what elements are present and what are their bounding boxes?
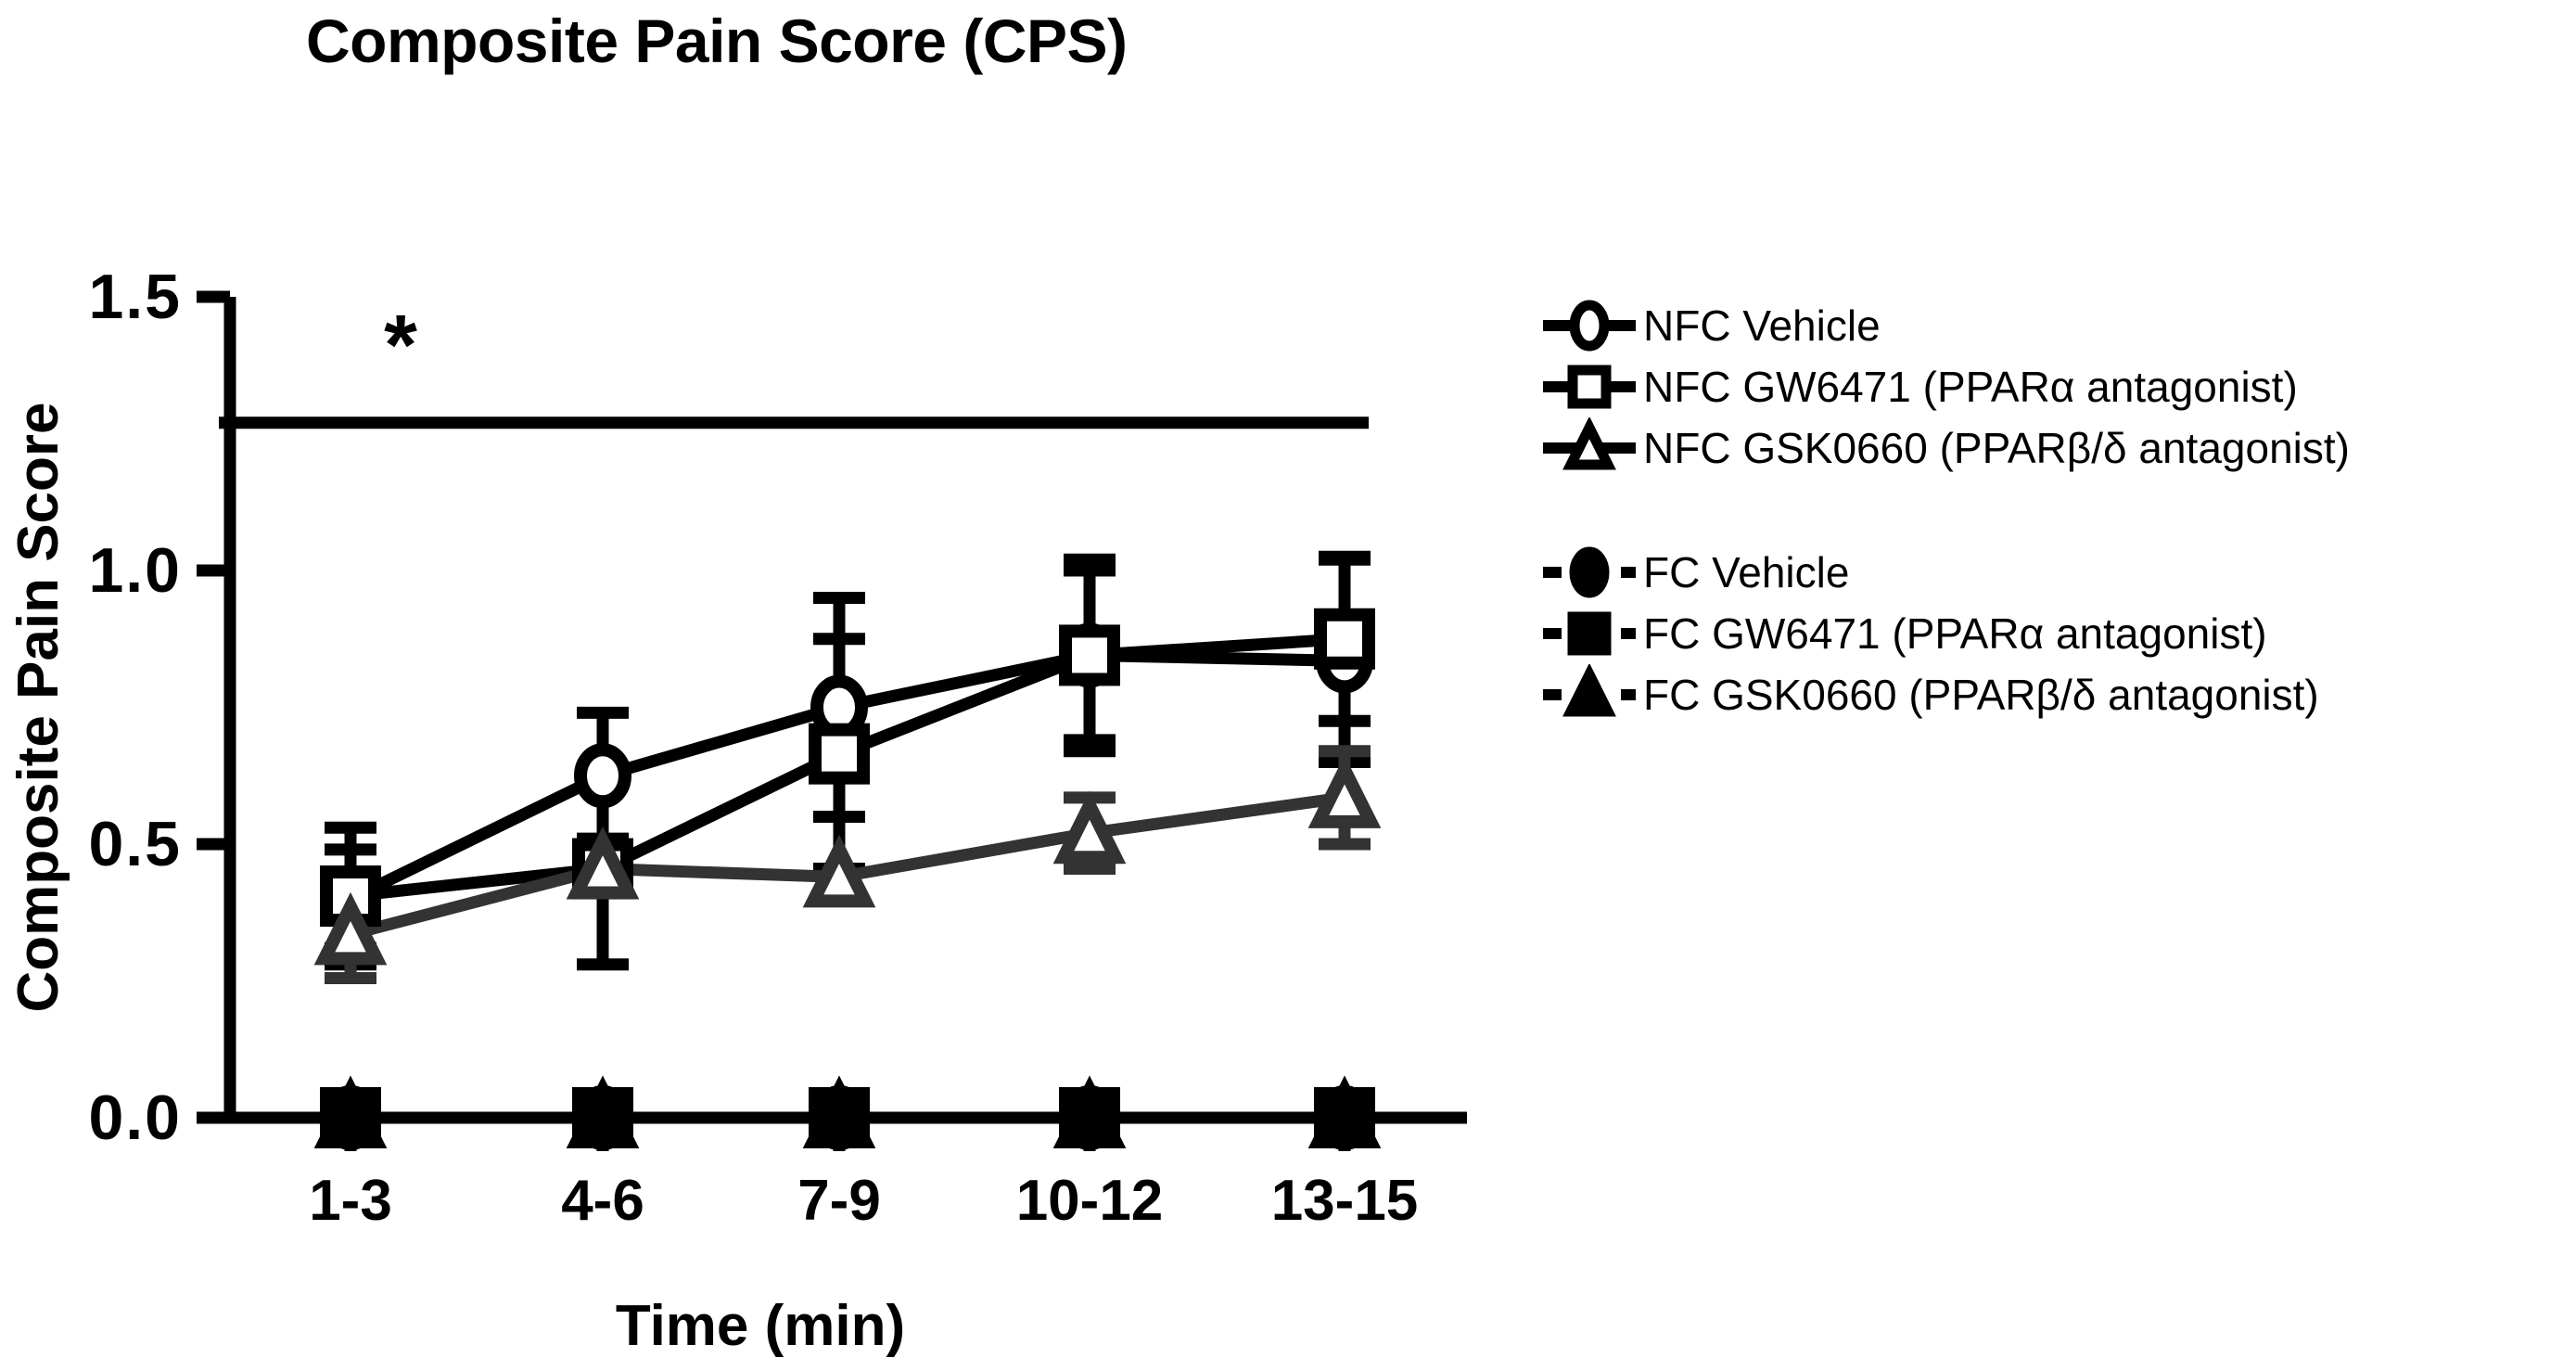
open-triangle-marker (1319, 770, 1371, 822)
legend-item[interactable]: NFC GW6471 (PPARα antagonist) (1539, 356, 2569, 417)
legend-item[interactable]: FC GSK0660 (PPARβ/δ antagonist) (1539, 664, 2569, 725)
legend-item[interactable]: FC Vehicle (1539, 542, 2569, 603)
filled-triangle-marker-icon (1539, 664, 1643, 725)
figure-container: Composite Pain Score (CPS) 0.00.51.01.5C… (0, 0, 2576, 1358)
x-axis-tick-label: 10-12 (1016, 1169, 1164, 1233)
open-square-marker (1065, 631, 1114, 679)
filled-circle-marker-icon (1539, 542, 1643, 603)
legend-item[interactable]: FC GW6471 (PPARα antagonist) (1539, 603, 2569, 664)
filled-square-marker-icon (1539, 603, 1643, 664)
open-square-marker (1320, 615, 1369, 663)
legend-item-label: NFC GW6471 (PPARα antagonist) (1643, 365, 2298, 408)
legend-item-label: FC Vehicle (1643, 551, 1849, 594)
y-axis-tick-label: 1.0 (88, 535, 182, 606)
open-triangle-marker (813, 849, 865, 901)
y-axis-title: Composite Pain Score (6, 402, 70, 1012)
legend-item[interactable]: NFC Vehicle (1539, 295, 2569, 356)
y-axis-tick-label: 0.5 (88, 809, 182, 879)
x-axis-tick-label: 7-9 (797, 1169, 881, 1233)
significance-asterisk: * (384, 299, 417, 393)
open-triangle-marker (1064, 805, 1116, 857)
x-axis-tick-label: 4-6 (561, 1169, 644, 1233)
legend-divider (1539, 479, 2569, 542)
y-axis-tick-label: 0.0 (88, 1083, 182, 1153)
legend-item-label: FC GW6471 (PPARα antagonist) (1643, 612, 2267, 655)
x-axis-tick-label: 1-3 (309, 1169, 392, 1233)
chart-legend: NFC Vehicle NFC GW6471 (PPARα antagonist… (1539, 295, 2569, 725)
legend-group-fc: FC Vehicle FC GW6471 (PPARα antagonist) … (1539, 542, 2569, 725)
legend-item[interactable]: NFC GSK0660 (PPARβ/δ antagonist) (1539, 417, 2569, 479)
open-square-marker (815, 730, 863, 778)
legend-group-nfc: NFC Vehicle NFC GW6471 (PPARα antagonist… (1539, 295, 2569, 479)
x-axis-title: Time (min) (616, 1294, 905, 1358)
legend-item-label: NFC Vehicle (1643, 304, 1881, 347)
x-axis-tick-label: 13-15 (1271, 1169, 1419, 1233)
open-circle-marker (580, 749, 625, 801)
legend-item-label: NFC GSK0660 (PPARβ/δ antagonist) (1643, 427, 2350, 469)
y-axis-tick-label: 1.5 (88, 262, 182, 332)
legend-item-label: FC GSK0660 (PPARβ/δ antagonist) (1643, 673, 2319, 716)
open-square-marker-icon (1539, 356, 1643, 417)
open-circle-marker-icon (1539, 295, 1643, 356)
open-triangle-marker-icon (1539, 417, 1643, 479)
